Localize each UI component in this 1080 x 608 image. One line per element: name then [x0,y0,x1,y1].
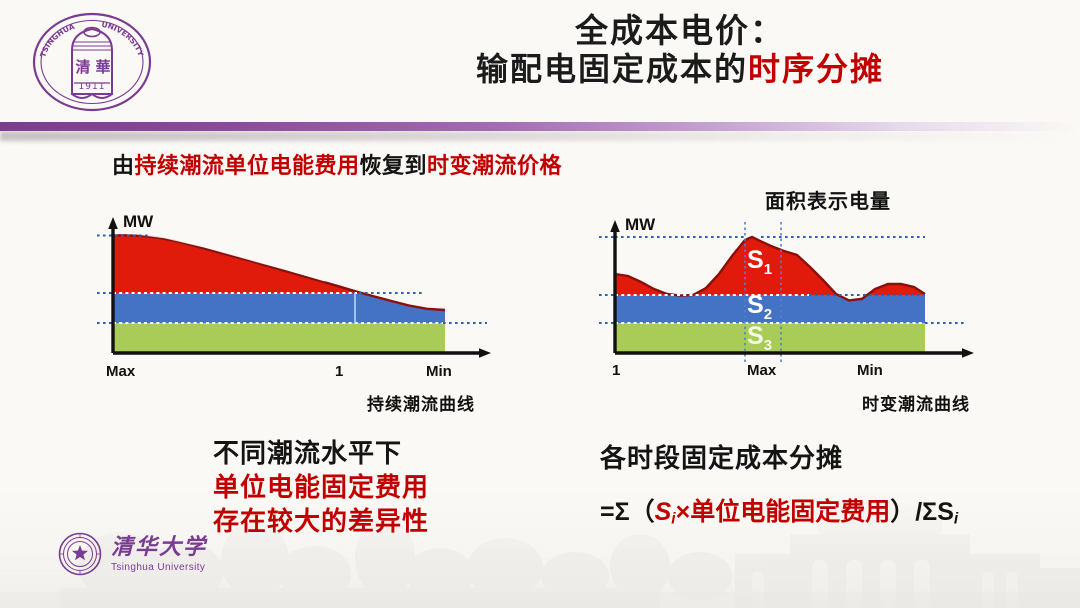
formula-tail-slash: /Σ [915,498,937,526]
right-xtick-min: Min [857,362,883,379]
subtitle-part-4: 时变潮流价格 [427,153,562,178]
left-xtick-max: Max [106,363,135,380]
title-line-1: 全成本电价： [300,12,1060,51]
svg-text:清: 清 [75,58,90,76]
right-text-line-1: 各时段固定成本分摊 [600,442,843,476]
subtitle: 由持续潮流单位电能费用恢复到时变潮流价格 [112,148,562,180]
tsinghua-emblem-icon [58,532,102,576]
formula-close: ） [890,498,915,526]
title-line-2: 输配电固定成本的时序分摊 [300,51,1060,89]
time-varying-curve-chart: MW S1 S2 S3 1 Max Min [595,210,995,365]
left-xtick-min: Min [426,363,452,380]
formula-red-part: ×单位电能固定费用 [676,498,891,526]
title-line-2-red: 时序分摊 [748,51,884,87]
band-blue [595,295,995,323]
footer-logo-text: 清华大学 Tsinghua University [111,536,207,573]
tsinghua-seal-icon: 清華 1911 TSINGHUA UNIVERSITY [28,10,156,114]
subtitle-part-1: 由 [112,153,135,178]
right-y-axis-label: MW [625,215,656,234]
header-divider-shadow [0,131,1080,141]
formula-prefix: =Σ（ [600,498,655,526]
left-text-line-3: 存在较大的差异性 [213,505,429,539]
title-line-2-black: 输配电固定成本的 [476,51,748,87]
left-text-line-1: 不同潮流水平下 [213,437,429,471]
left-conclusion-text: 不同潮流水平下 单位电能固定费用 存在较大的差异性 [213,437,429,538]
formula-tail-s: Si [937,498,958,526]
subtitle-part-3: 恢复到 [360,153,428,178]
left-chart-caption: 持续潮流曲线 [367,390,475,415]
right-xtick-1: 1 [612,362,620,379]
footer-logo: 清华大学 Tsinghua University [58,532,207,576]
header-divider [0,122,1080,131]
svg-text:1911: 1911 [79,82,106,92]
cost-allocation-formula: =Σ（Si×单位电能固定费用）/ΣSi [600,492,958,528]
subtitle-part-2: 持续潮流单位电能费用 [135,153,360,178]
left-y-axis-label: MW [123,212,154,231]
x-axis-arrow-icon [962,348,974,358]
slide-title: 全成本电价： 输配电固定成本的时序分摊 [300,12,1060,89]
formula-s: Si [655,498,676,526]
duration-curve-chart: MW Max 1 Min [95,205,505,365]
left-text-line-2: 单位电能固定费用 [213,471,429,505]
band-green [595,323,995,355]
duration-bands [95,205,505,365]
slide: 清華 1911 TSINGHUA UNIVERSITY 全成本电价： 输配电固定… [0,0,1080,608]
right-xtick-max: Max [747,362,776,379]
footer-logo-cn: 清华大学 [111,536,207,558]
svg-text:華: 華 [95,58,110,76]
right-conclusion-text: 各时段固定成本分摊 [600,442,843,476]
footer-logo-en: Tsinghua University [111,563,207,573]
band-green [95,323,505,355]
band-blue [95,293,505,323]
left-xtick-1: 1 [335,363,343,380]
right-chart-caption: 时变潮流曲线 [862,390,970,415]
y-axis-arrow-icon [610,220,620,232]
x-axis-arrow-icon [479,348,491,358]
y-axis-arrow-icon [108,217,118,229]
